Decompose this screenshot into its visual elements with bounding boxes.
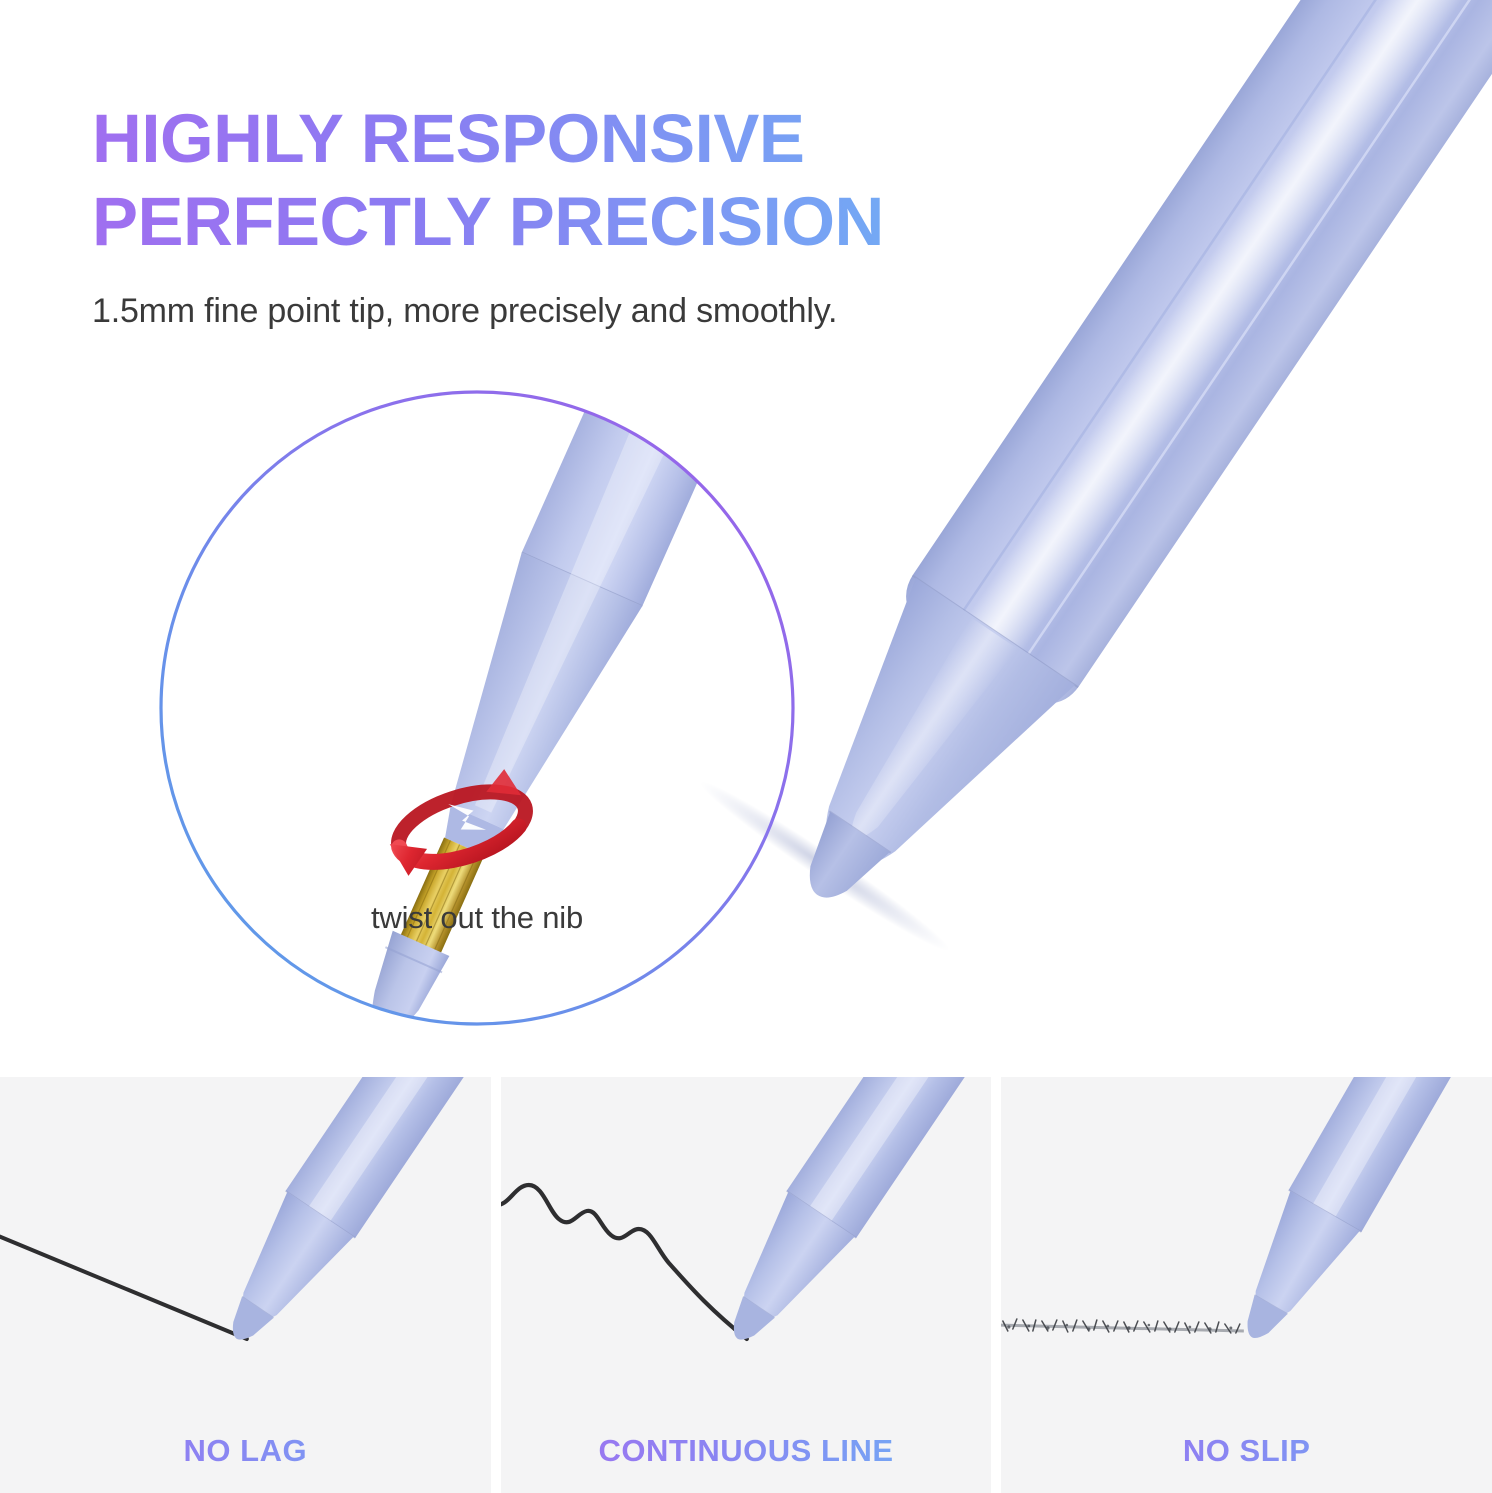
feature-panel-no-lag: NO LAG: [0, 1077, 491, 1493]
feature-panel-continuous-line: CONTINUOUS LINE: [501, 1077, 992, 1493]
subtitle-text: 1.5mm fine point tip, more precisely and…: [92, 256, 1212, 331]
no-slip-illustration: [1001, 1077, 1492, 1417]
stroke-path: [1001, 1319, 1244, 1333]
detail-caption: twist out the nib: [150, 900, 804, 936]
feature-panels: NO LAG: [0, 1077, 1492, 1493]
headline-line-1: HIGHLY RESPONSIVE: [92, 104, 1212, 173]
hero-section: HIGHLY RESPONSIVE PERFECTLY PRECISION 1.…: [0, 0, 1492, 1077]
headline-block: HIGHLY RESPONSIVE PERFECTLY PRECISION 1.…: [92, 104, 1212, 331]
no-lag-illustration: [0, 1077, 491, 1417]
panel-label-no-slip: NO SLIP: [1001, 1433, 1492, 1469]
product-feature-page: HIGHLY RESPONSIVE PERFECTLY PRECISION 1.…: [0, 0, 1492, 1493]
stroke-path: [0, 1235, 247, 1339]
continuous-line-illustration: [501, 1077, 992, 1417]
panel-label-no-lag: NO LAG: [0, 1433, 491, 1469]
panel-label-continuous-line: CONTINUOUS LINE: [501, 1433, 992, 1469]
stroke-path: [501, 1185, 747, 1339]
headline-line-2: PERFECTLY PRECISION: [92, 187, 1212, 256]
feature-panel-no-slip: NO SLIP: [1001, 1077, 1492, 1493]
